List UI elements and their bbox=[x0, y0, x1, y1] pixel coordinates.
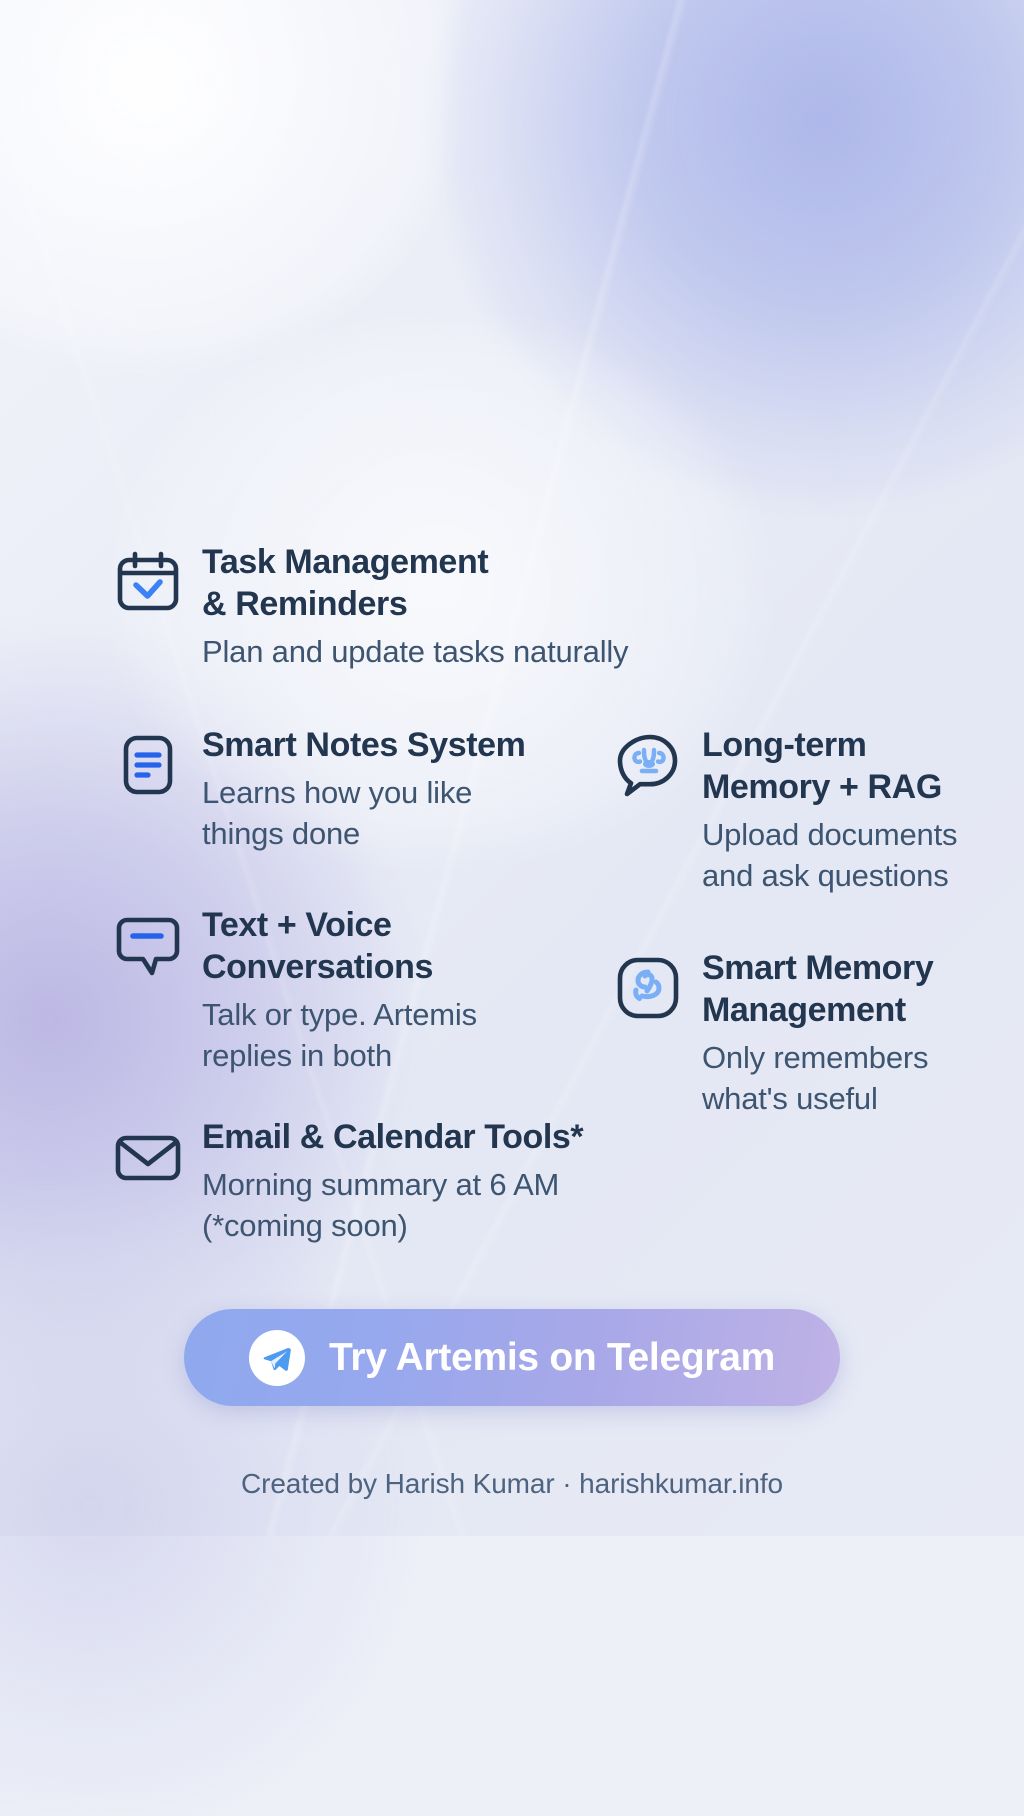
feature-item-smart-memory: Smart MemoryManagement Only rememberswha… bbox=[614, 948, 1014, 1119]
brain-bubble-icon bbox=[614, 731, 682, 799]
telegram-plane-icon bbox=[249, 1330, 305, 1386]
feature-text: Smart Notes System Learns how you liketh… bbox=[202, 725, 594, 855]
feature-title: Text + VoiceConversations bbox=[202, 905, 594, 989]
chat-bubble-icon bbox=[114, 911, 182, 979]
feature-text: Long-termMemory + RAG Upload documentsan… bbox=[702, 725, 1014, 896]
feature-text: Smart MemoryManagement Only rememberswha… bbox=[702, 948, 1014, 1119]
feature-title: Task Management& Reminders bbox=[202, 542, 714, 626]
feature-title: Smart Notes System bbox=[202, 725, 594, 767]
feature-description: Plan and update tasks naturally bbox=[202, 632, 714, 673]
feature-item-email-calendar: Email & Calendar Tools* Morning summary … bbox=[114, 1117, 674, 1247]
feature-item-task-management: Task Management& Reminders Plan and upda… bbox=[114, 542, 714, 673]
feature-item-smart-notes: Smart Notes System Learns how you liketh… bbox=[114, 725, 594, 855]
feature-description: Learns how you likethings done bbox=[202, 773, 594, 855]
cta-label: Try Artemis on Telegram bbox=[329, 1336, 775, 1380]
feature-text: Text + VoiceConversations Talk or type. … bbox=[202, 905, 594, 1076]
try-artemis-telegram-button[interactable]: Try Artemis on Telegram bbox=[184, 1309, 840, 1406]
feature-item-longterm-memory: Long-termMemory + RAG Upload documentsan… bbox=[614, 725, 1014, 896]
feature-title: Smart MemoryManagement bbox=[702, 948, 1014, 1032]
calendar-check-icon bbox=[114, 548, 182, 616]
feature-text: Email & Calendar Tools* Morning summary … bbox=[202, 1117, 674, 1247]
feature-item-text-voice: Text + VoiceConversations Talk or type. … bbox=[114, 905, 594, 1076]
feature-description: Only rememberswhat's useful bbox=[702, 1038, 1014, 1120]
feature-text: Task Management& Reminders Plan and upda… bbox=[202, 542, 714, 673]
envelope-icon bbox=[114, 1123, 182, 1191]
footer-credit: Created by Harish Kumar · harishkumar.in… bbox=[0, 1468, 1024, 1500]
feature-title: Email & Calendar Tools* bbox=[202, 1117, 674, 1159]
feature-description: Upload documentsand ask questions bbox=[702, 815, 1014, 897]
feature-description: Talk or type. Artemisreplies in both bbox=[202, 995, 594, 1077]
feature-title: Long-termMemory + RAG bbox=[702, 725, 1014, 809]
memory-swirl-icon bbox=[614, 954, 682, 1022]
feature-description: Morning summary at 6 AM(*coming soon) bbox=[202, 1165, 674, 1247]
notes-document-icon bbox=[114, 731, 182, 799]
landing-page: Artemis Your Evolving Personal Assistant… bbox=[0, 0, 1024, 1536]
